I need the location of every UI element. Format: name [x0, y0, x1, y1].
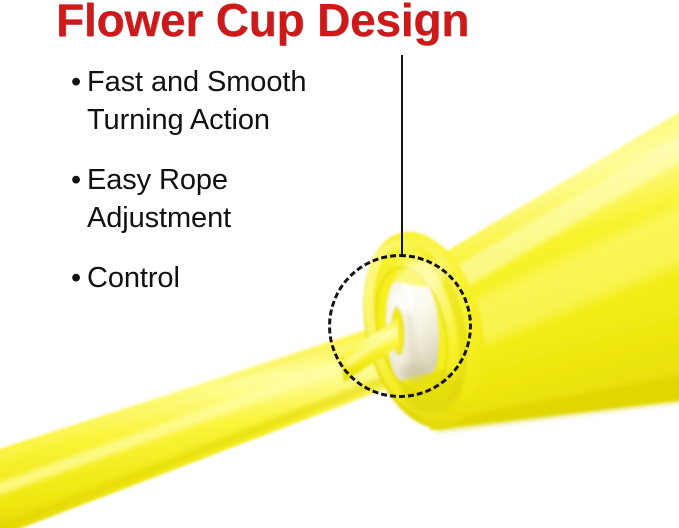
- page-title: Flower Cup Design: [56, 0, 469, 47]
- list-item: • Fast and Smooth Turning Action: [71, 63, 361, 139]
- feature-bullet-list: • Fast and Smooth Turning Action • Easy …: [71, 63, 361, 319]
- feature-label: Easy Rope Adjustment: [87, 161, 361, 237]
- callout-leader-line: [401, 55, 403, 255]
- feature-label: Fast and Smooth Turning Action: [87, 63, 361, 139]
- feature-label: Control: [87, 259, 361, 297]
- list-item: • Control: [71, 259, 361, 297]
- callout-highlight-circle: [328, 254, 472, 398]
- list-item: • Easy Rope Adjustment: [71, 161, 361, 237]
- bullet-point-icon: •: [71, 161, 87, 199]
- product-feature-image: Flower Cup Design • Fast and Smooth Turn…: [0, 0, 679, 528]
- bullet-point-icon: •: [71, 259, 87, 297]
- bullet-point-icon: •: [71, 63, 87, 101]
